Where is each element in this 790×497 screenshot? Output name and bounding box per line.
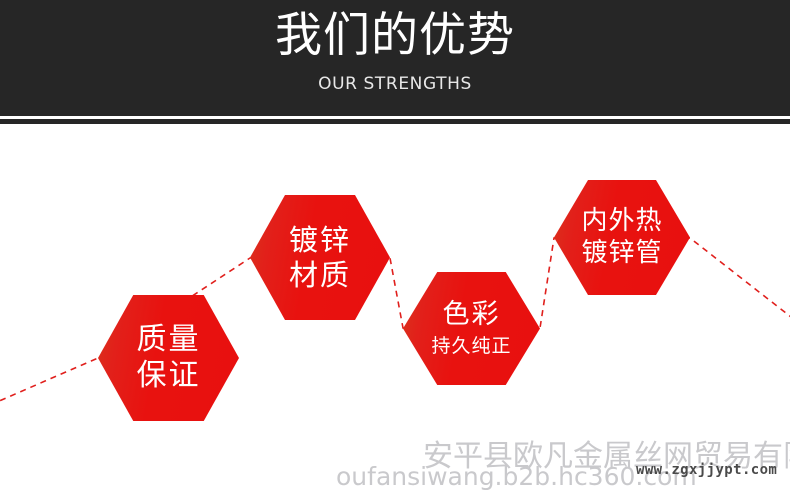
- hexagon-line2: 材质: [289, 260, 351, 291]
- watermark-stamp-url: www.zgxjjypt.com: [636, 462, 777, 478]
- page-title: 我们的优势: [0, 9, 790, 63]
- hexagon-line1: 内外热: [581, 208, 662, 236]
- header-bar: 我们的优势 OUR STRENGTHS: [0, 0, 790, 116]
- hexagon-line1: 质量: [137, 324, 201, 356]
- promo-banner: 我们的优势 OUR STRENGTHS 质量 保证 镀锌 材质 色彩 持久纯正 …: [0, 0, 790, 497]
- hexagon-line2: 保证: [137, 360, 201, 392]
- hexagon-line2: 持久纯正: [431, 336, 511, 356]
- page-subtitle: OUR STRENGTHS: [0, 74, 790, 94]
- hexagon-line2: 镀锌管: [581, 240, 662, 268]
- hexagon-line1: 色彩: [443, 301, 501, 330]
- hexagon-line1: 镀锌: [289, 225, 351, 256]
